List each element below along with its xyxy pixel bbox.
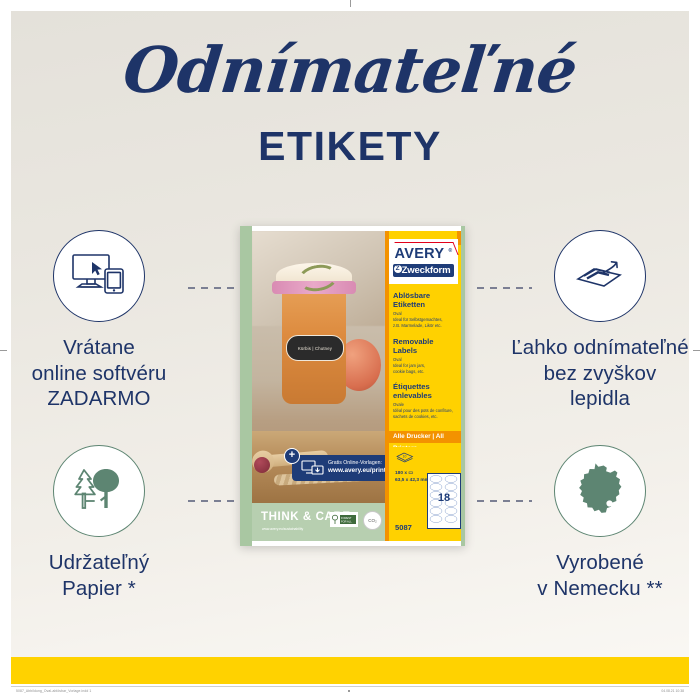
zweckform-z-icon: Z	[394, 265, 402, 273]
feature-icon-circle	[554, 445, 646, 537]
product-package[interactable]: Kürbis | Chutney +	[240, 226, 465, 546]
feature-made-in-germany: Vyrobené v Nemecku **	[500, 445, 689, 601]
online-templates-title: Gratis Online-Vorlagen:	[328, 460, 382, 466]
footer-note-right: 04.08.21 10:38	[661, 689, 684, 693]
feature-caption: Ľahko odnímateľné bez zvyškov lepidla	[500, 335, 689, 412]
block-de-title: Ablösbare Etiketten	[393, 291, 457, 309]
avery-wordmark: AVERY	[395, 246, 453, 262]
block-fr-title: Étiquettes enlevables	[393, 382, 457, 400]
quantity-spec: 180 x ▭	[395, 471, 413, 476]
artboard: Odnímateľné ETIKETY	[11, 11, 689, 673]
svg-text:FOREST: FOREST	[341, 516, 352, 520]
package-inner: Kürbis | Chutney +	[252, 231, 461, 541]
feature-sustainable-paper: Udržateľný Papier *	[11, 445, 199, 601]
footer-divider	[11, 686, 689, 687]
dimensions-spec: 63,5 x 42,3 mm	[395, 478, 429, 483]
article-number: 5087	[395, 523, 412, 532]
germany-map-icon	[575, 462, 625, 521]
monitor-download-icon	[301, 460, 325, 476]
sheet-stack-icon: 10	[395, 451, 415, 465]
zweckform-wordmark: Z Zweckform	[393, 264, 455, 278]
feature-icon-circle	[53, 445, 145, 537]
plus-icon: +	[284, 448, 300, 464]
crop-mark-top-center	[350, 0, 351, 7]
jar-label: Kürbis | Chutney	[286, 335, 344, 361]
labels-per-sheet-count: 18	[428, 492, 460, 504]
label-layout-diagram: 18	[427, 473, 461, 529]
online-templates-banner: + Gratis Online-Vorlagen: www.avery	[292, 455, 385, 481]
co2-badge: CO₂	[363, 511, 382, 530]
feature-icon-circle	[53, 230, 145, 322]
package-green-edge	[461, 226, 465, 546]
footer-center-dot	[348, 690, 350, 692]
package-green-spine	[240, 226, 252, 546]
package-sustainability-band: THINK & CARE www.avery.eu/sustainability…	[252, 503, 385, 541]
online-templates-text: Gratis Online-Vorlagen: www.avery.eu/pri…	[328, 460, 385, 476]
svg-text:10: 10	[403, 454, 407, 458]
feature-caption: Vrátane online softvéru ZADARMO	[11, 335, 199, 412]
feature-caption: Vyrobené v Nemecku **	[500, 550, 689, 601]
package-specs: 10 180 x ▭ 63,5 x 42,3 mm 5087	[389, 447, 461, 541]
feature-icon-circle	[554, 230, 646, 322]
photo-jam-jar: Kürbis | Chutney	[282, 279, 346, 404]
page-title-script: Odnímateľné	[11, 39, 689, 102]
block-de-desc: Oval Ideal für Selbstgemachtes, z.B. Mar…	[393, 311, 457, 329]
feature-caption: Udržateľný Papier *	[11, 550, 199, 601]
avery-swoosh-icon	[394, 242, 458, 255]
think-care-url: www.avery.eu/sustainability	[262, 527, 303, 531]
fsc-badge: FOREST FOR ALL	[330, 512, 358, 527]
crop-mark-left-middle	[0, 350, 7, 351]
all-printers-banner: Alle Drucker | All Printers	[389, 431, 461, 443]
block-fr-desc: Ovale Idéal pour des pots de confiture, …	[393, 402, 457, 420]
photo-cherry	[254, 457, 270, 473]
page-title-bold: ETIKETY	[11, 126, 689, 167]
footer-note-left: 5087_Abbildung_Oval-ablösbar_Vorlage.ind…	[16, 689, 91, 693]
package-description-blocks: Ablösbare Etiketten Oval Ideal für Selbs…	[393, 291, 457, 428]
peeling-label-icon	[572, 252, 628, 301]
jar-label-text: Kürbis | Chutney	[298, 346, 332, 351]
monitor-phone-cursor-icon	[70, 252, 128, 301]
zweckform-wordmark-text: Zweckform	[402, 265, 451, 276]
block-en-desc: Oval Ideal for jam jars, cookie bags, et…	[393, 357, 457, 375]
feature-online-software: Vrátane online softvéru ZADARMO	[11, 230, 199, 412]
poster-page: Odnímateľné ETIKETY	[0, 0, 700, 700]
bottom-yellow-bar	[11, 657, 689, 684]
package-info-column: AVERY Z Zweckform Ablösbare Etiketten	[385, 231, 461, 541]
package-photo: Kürbis | Chutney +	[252, 231, 385, 503]
online-templates-url: www.avery.eu/print	[328, 467, 385, 476]
feature-removable: Ľahko odnímateľné bez zvyškov lepidla	[500, 230, 689, 412]
svg-text:FOR ALL: FOR ALL	[341, 519, 352, 523]
block-en-title: Removable Labels	[393, 337, 457, 355]
trees-icon	[72, 465, 126, 518]
brand-logo: AVERY Z Zweckform	[389, 239, 458, 284]
crop-mark-right-middle	[693, 350, 700, 351]
